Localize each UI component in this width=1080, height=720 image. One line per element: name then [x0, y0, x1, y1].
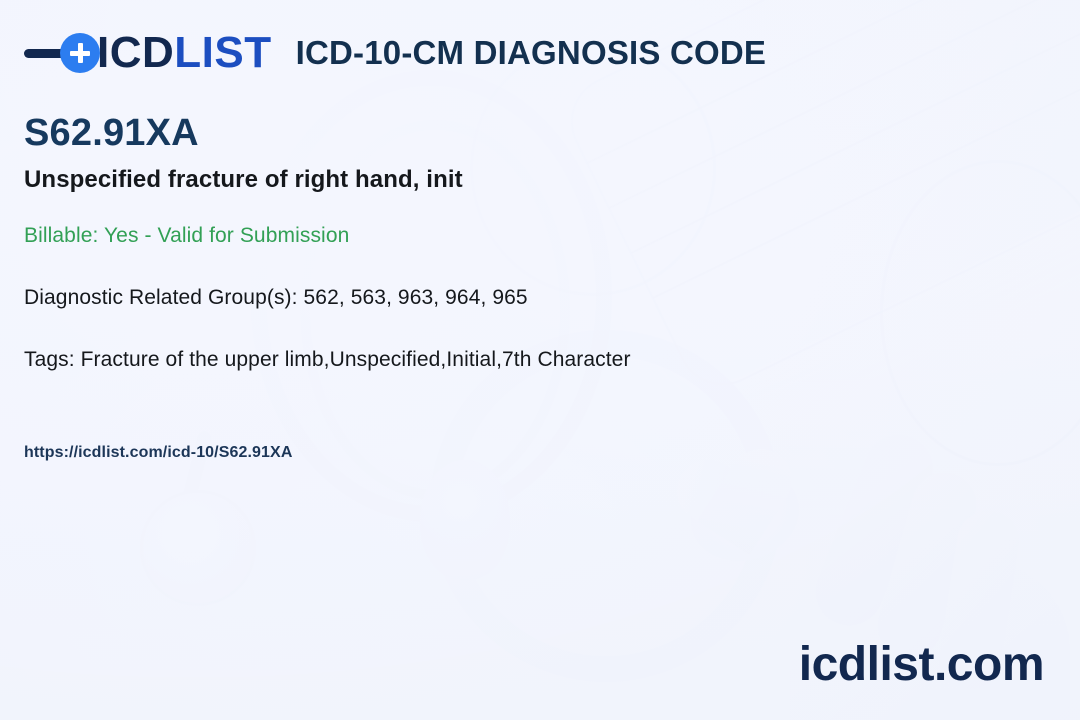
plus-icon: [60, 33, 100, 73]
diagnostic-related-groups: Diagnostic Related Group(s): 562, 563, 9…: [24, 286, 528, 310]
billable-status: Billable: Yes - Valid for Submission: [24, 224, 349, 248]
source-url-link[interactable]: https://icdlist.com/icd-10/S62.91XA: [24, 444, 292, 462]
logo-text-secondary: LIST: [174, 28, 271, 77]
diagnosis-tags: Tags: Fracture of the upper limb,Unspeci…: [24, 348, 631, 372]
card-content: ICDLIST ICD-10-CM DIAGNOSIS CODE S62.91X…: [0, 0, 1080, 720]
brand-watermark: icdlist.com: [799, 637, 1044, 692]
icdlist-logo[interactable]: ICDLIST: [24, 24, 272, 82]
diagnosis-code-card: ICDLIST ICD-10-CM DIAGNOSIS CODE S62.91X…: [0, 0, 1080, 720]
page-title: ICD-10-CM DIAGNOSIS CODE: [296, 34, 767, 72]
diagnosis-description: Unspecified fracture of right hand, init: [24, 166, 463, 194]
logo-text-primary: ICD: [97, 28, 174, 77]
diagnosis-code: S62.91XA: [24, 112, 199, 155]
page-header: ICDLIST ICD-10-CM DIAGNOSIS CODE: [24, 24, 766, 82]
